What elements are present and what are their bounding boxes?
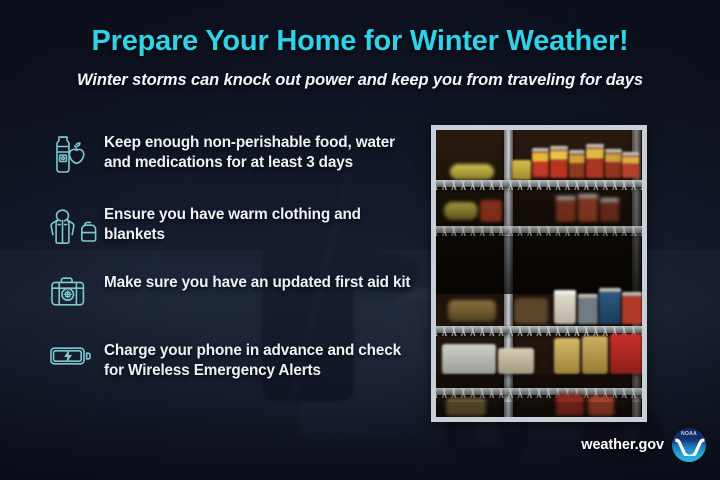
list-item-label: Make sure you have an updated first aid … xyxy=(104,272,410,293)
pantry-photo xyxy=(436,130,642,417)
first-aid-kit-icon xyxy=(48,272,104,314)
pantry-photo-frame xyxy=(431,125,647,422)
list-item-label: Charge your phone in advance and check f… xyxy=(104,340,420,382)
noaa-seagull-shape xyxy=(674,437,706,456)
winter-coat-blanket-icon xyxy=(48,204,104,248)
battery-charging-icon xyxy=(48,340,104,370)
list-item-label: Ensure you have warm clothing and blanke… xyxy=(104,204,420,246)
water-bottle-apple-icon xyxy=(48,132,104,178)
weather-gov-label: weather.gov xyxy=(581,437,664,453)
footer: weather.gov NOAA xyxy=(581,428,706,462)
noaa-logo-icon: NOAA xyxy=(672,428,706,462)
list-item: Ensure you have warm clothing and blanke… xyxy=(48,204,420,248)
shelf-shadow-middle xyxy=(436,236,642,294)
list-item: Make sure you have an updated first aid … xyxy=(48,272,420,314)
winter-weather-poster: Prepare Your Home for Winter Weather! Wi… xyxy=(0,0,720,480)
preparedness-tip-list: Keep enough non-perishable food, water a… xyxy=(48,132,420,401)
list-item-label: Keep enough non-perishable food, water a… xyxy=(104,132,420,174)
page-title: Prepare Your Home for Winter Weather! xyxy=(0,25,720,58)
list-item: Keep enough non-perishable food, water a… xyxy=(48,132,420,178)
list-item: Charge your phone in advance and check f… xyxy=(48,340,420,382)
shelf-grid-1 xyxy=(436,180,642,190)
page-subtitle: Winter storms can knock out power and ke… xyxy=(0,71,720,90)
shelf-grid-2 xyxy=(436,226,642,236)
